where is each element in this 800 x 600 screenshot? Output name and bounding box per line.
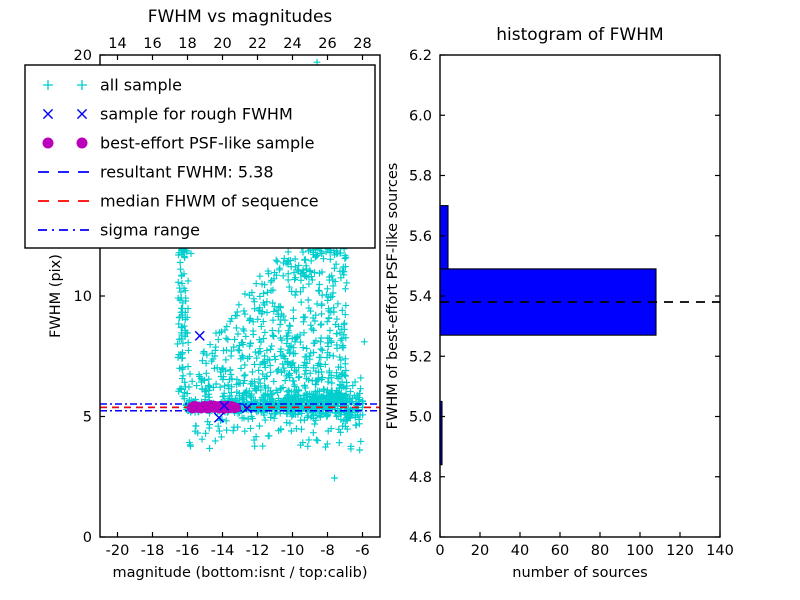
right-panel-histogram: histogram of FWHM020406080100120140numbe… bbox=[385, 25, 734, 581]
marker-plus-icon bbox=[174, 341, 181, 348]
marker-plus-icon bbox=[307, 308, 314, 315]
marker-plus-icon bbox=[212, 438, 219, 445]
marker-plus-icon bbox=[268, 279, 275, 286]
marker-plus-icon bbox=[227, 366, 234, 373]
legend-item-label: sample for rough FWHM bbox=[100, 105, 293, 124]
histogram-bars bbox=[440, 206, 656, 465]
marker-plus-icon bbox=[205, 376, 212, 383]
hist-y-tick-label: 5.0 bbox=[409, 410, 432, 426]
x-tick-label-top: 28 bbox=[353, 36, 371, 52]
hist-y-tick-label: 4.6 bbox=[409, 530, 432, 546]
hist-y-tick-label: 5.6 bbox=[409, 229, 432, 245]
marker-plus-icon bbox=[228, 371, 235, 378]
marker-plus-icon bbox=[269, 327, 276, 334]
marker-plus-icon bbox=[203, 370, 210, 377]
marker-plus-icon bbox=[217, 384, 224, 391]
marker-plus-icon bbox=[361, 338, 368, 345]
x-tick-label-top: 26 bbox=[318, 36, 336, 52]
marker-plus-icon bbox=[231, 336, 238, 343]
y-tick-label-left: 20 bbox=[74, 48, 92, 64]
marker-plus-icon bbox=[187, 443, 194, 450]
marker-plus-icon bbox=[285, 387, 292, 394]
right-ylabel: FWHM of best-effort PSF-like sources bbox=[385, 163, 401, 430]
marker-plus-icon bbox=[265, 433, 272, 440]
marker-plus-icon bbox=[206, 445, 213, 452]
marker-plus-icon bbox=[223, 427, 230, 434]
marker-plus-icon bbox=[270, 317, 277, 324]
marker-plus-icon bbox=[333, 413, 340, 420]
marker-plus-icon bbox=[331, 475, 338, 482]
marker-plus-icon bbox=[187, 371, 194, 378]
marker-plus-icon bbox=[242, 311, 249, 318]
marker-plus-icon bbox=[253, 280, 260, 287]
marker-plus-icon bbox=[316, 281, 323, 288]
marker-plus-icon bbox=[298, 426, 305, 433]
marker-plus-icon bbox=[339, 307, 346, 314]
marker-plus-icon bbox=[255, 367, 262, 374]
figure-canvas: FWHM vs magnitudes-20-18-16-14-12-10-8-6… bbox=[0, 0, 800, 600]
marker-plus-icon bbox=[242, 372, 249, 379]
hist-y-tick-label: 6.0 bbox=[409, 108, 432, 124]
marker-plus-icon bbox=[318, 346, 325, 353]
x-tick-label-bottom: -16 bbox=[176, 543, 200, 559]
marker-plus-icon bbox=[287, 323, 294, 330]
marker-plus-icon bbox=[310, 429, 317, 436]
legend-dot-icon bbox=[77, 138, 87, 148]
marker-plus-icon bbox=[268, 343, 275, 350]
x-tick-label-bottom: -14 bbox=[211, 543, 235, 559]
marker-plus-icon bbox=[343, 280, 350, 287]
marker-plus-icon bbox=[327, 327, 334, 334]
marker-plus-icon bbox=[316, 354, 323, 361]
marker-plus-icon bbox=[266, 357, 273, 364]
marker-plus-icon bbox=[342, 311, 349, 318]
marker-plus-icon bbox=[200, 350, 207, 357]
marker-plus-icon bbox=[259, 443, 266, 450]
hist-y-tick-label: 4.8 bbox=[409, 470, 432, 486]
marker-plus-icon bbox=[337, 357, 344, 364]
marker-plus-icon bbox=[283, 419, 290, 426]
marker-plus-icon bbox=[334, 345, 341, 352]
marker-plus-icon bbox=[256, 423, 263, 430]
marker-plus-icon bbox=[241, 308, 248, 315]
marker-plus-icon bbox=[250, 328, 257, 335]
x-tick-label-bottom: -20 bbox=[106, 543, 130, 559]
right-xlabel: number of sources bbox=[512, 565, 648, 581]
marker-plus-icon bbox=[262, 329, 269, 336]
marker-plus-icon bbox=[264, 309, 271, 316]
marker-plus-icon bbox=[277, 321, 284, 328]
marker-plus-icon bbox=[337, 429, 344, 436]
marker-plus-icon bbox=[336, 354, 343, 361]
marker-plus-icon bbox=[342, 302, 349, 309]
marker-plus-icon bbox=[303, 262, 310, 269]
hist-x-tick-label: 100 bbox=[626, 543, 654, 559]
marker-plus-icon bbox=[331, 265, 338, 272]
marker-plus-icon bbox=[189, 378, 196, 385]
marker-plus-icon bbox=[202, 393, 209, 400]
marker-plus-icon bbox=[306, 353, 313, 360]
marker-plus-icon bbox=[312, 318, 319, 325]
marker-plus-icon bbox=[175, 279, 182, 286]
legend-item-label: resultant FWHM: 5.38 bbox=[100, 163, 274, 182]
marker-plus-icon bbox=[315, 287, 322, 294]
marker-cross-icon bbox=[195, 331, 204, 340]
marker-plus-icon bbox=[276, 265, 283, 272]
left-xlabel-bottom: magnitude (bottom:isnt / top:calib) bbox=[112, 565, 367, 581]
marker-plus-icon bbox=[300, 314, 307, 321]
marker-plus-icon bbox=[313, 437, 320, 444]
histogram-bar bbox=[440, 206, 448, 269]
marker-plus-icon bbox=[325, 379, 332, 386]
matplotlib-figure: FWHM vs magnitudes-20-18-16-14-12-10-8-6… bbox=[0, 0, 800, 600]
marker-plus-icon bbox=[341, 268, 348, 275]
marker-plus-icon bbox=[249, 369, 256, 376]
marker-dot-icon bbox=[202, 404, 209, 411]
legend-dot-icon bbox=[43, 138, 53, 148]
marker-plus-icon bbox=[330, 353, 337, 360]
marker-plus-icon bbox=[318, 302, 325, 309]
marker-plus-icon bbox=[213, 330, 220, 337]
marker-plus-icon bbox=[322, 444, 329, 451]
x-tick-label-bottom: -6 bbox=[355, 543, 369, 559]
marker-plus-icon bbox=[292, 292, 299, 299]
marker-plus-icon bbox=[261, 360, 268, 367]
marker-plus-icon bbox=[234, 312, 241, 319]
marker-plus-icon bbox=[178, 289, 185, 296]
marker-plus-icon bbox=[318, 321, 325, 328]
marker-plus-icon bbox=[257, 273, 264, 280]
hist-x-tick-label: 60 bbox=[551, 543, 569, 559]
legend-item-label: median FHWM of sequence bbox=[100, 192, 319, 211]
marker-plus-icon bbox=[270, 378, 277, 385]
marker-plus-icon bbox=[230, 427, 237, 434]
hist-x-tick-label: 40 bbox=[511, 543, 529, 559]
marker-plus-icon bbox=[193, 382, 200, 389]
marker-plus-icon bbox=[336, 439, 343, 446]
marker-plus-icon bbox=[343, 254, 350, 261]
marker-plus-icon bbox=[292, 256, 299, 263]
marker-plus-icon bbox=[309, 326, 316, 333]
hist-x-tick-label: 0 bbox=[435, 543, 444, 559]
marker-plus-icon bbox=[290, 378, 297, 385]
marker-plus-icon bbox=[290, 350, 297, 357]
marker-plus-icon bbox=[202, 430, 209, 437]
legend-item-label: best-effort PSF-like sample bbox=[100, 134, 314, 153]
marker-plus-icon bbox=[357, 375, 364, 382]
hist-x-tick-label: 20 bbox=[471, 543, 489, 559]
marker-plus-icon bbox=[223, 356, 230, 363]
y-tick-label-left: 0 bbox=[83, 530, 92, 546]
marker-plus-icon bbox=[225, 382, 232, 389]
marker-plus-icon bbox=[317, 338, 324, 345]
marker-plus-icon bbox=[333, 330, 340, 337]
marker-plus-icon bbox=[334, 316, 341, 323]
marker-plus-icon bbox=[234, 424, 241, 431]
marker-plus-icon bbox=[306, 281, 313, 288]
marker-plus-icon bbox=[185, 278, 192, 285]
marker-plus-icon bbox=[326, 314, 333, 321]
x-tick-label-bottom: -10 bbox=[281, 543, 305, 559]
marker-plus-icon bbox=[223, 323, 230, 330]
x-tick-label-bottom: -18 bbox=[141, 543, 165, 559]
marker-plus-icon bbox=[305, 297, 312, 304]
marker-plus-icon bbox=[314, 301, 321, 308]
marker-plus-icon bbox=[177, 259, 184, 266]
marker-plus-icon bbox=[303, 345, 310, 352]
marker-plus-icon bbox=[356, 447, 363, 454]
left-ylabel: FWHM (pix) bbox=[48, 254, 64, 338]
marker-plus-icon bbox=[295, 262, 302, 269]
marker-plus-icon bbox=[215, 336, 222, 343]
y-tick-label-left: 10 bbox=[74, 289, 92, 305]
marker-plus-icon bbox=[224, 336, 231, 343]
hist-x-tick-label: 120 bbox=[666, 543, 694, 559]
x-tick-label-top: 20 bbox=[213, 36, 231, 52]
marker-plus-icon bbox=[286, 322, 293, 329]
marker-plus-icon bbox=[311, 421, 318, 428]
marker-plus-icon bbox=[193, 423, 200, 430]
marker-plus-icon bbox=[327, 256, 334, 263]
marker-plus-icon bbox=[235, 331, 242, 338]
marker-plus-icon bbox=[206, 425, 213, 432]
marker-plus-icon bbox=[291, 276, 298, 283]
marker-plus-icon bbox=[267, 369, 274, 376]
marker-plus-icon bbox=[306, 305, 313, 312]
marker-plus-icon bbox=[298, 299, 305, 306]
marker-plus-icon bbox=[185, 339, 192, 346]
hist-y-tick-label: 5.4 bbox=[409, 289, 432, 305]
marker-plus-icon bbox=[301, 257, 308, 264]
marker-plus-icon bbox=[324, 441, 331, 448]
legend-item-label: all sample bbox=[100, 76, 182, 95]
marker-plus-icon bbox=[268, 287, 275, 294]
marker-plus-icon bbox=[290, 307, 297, 314]
marker-plus-icon bbox=[357, 438, 364, 445]
marker-plus-icon bbox=[223, 417, 230, 424]
marker-plus-icon bbox=[290, 315, 297, 322]
marker-plus-icon bbox=[318, 311, 325, 318]
marker-plus-icon bbox=[216, 428, 223, 435]
marker-plus-icon bbox=[335, 426, 342, 433]
marker-plus-icon bbox=[177, 266, 184, 273]
x-tick-label-top: 22 bbox=[248, 36, 266, 52]
x-tick-label-top: 14 bbox=[108, 36, 126, 52]
marker-plus-icon bbox=[342, 360, 349, 367]
x-tick-label-bottom: -12 bbox=[246, 543, 270, 559]
marker-plus-icon bbox=[270, 333, 277, 340]
marker-plus-icon bbox=[282, 377, 289, 384]
x-tick-label-bottom: -8 bbox=[320, 543, 334, 559]
marker-plus-icon bbox=[238, 365, 245, 372]
marker-plus-icon bbox=[275, 328, 282, 335]
marker-plus-icon bbox=[285, 277, 292, 284]
marker-plus-icon bbox=[251, 443, 258, 450]
hist-y-tick-label: 5.8 bbox=[409, 169, 432, 185]
x-tick-label-top: 24 bbox=[283, 36, 301, 52]
x-tick-label-top: 18 bbox=[178, 36, 196, 52]
marker-plus-icon bbox=[274, 258, 281, 265]
legend-box bbox=[25, 65, 375, 248]
marker-plus-icon bbox=[342, 285, 349, 292]
hist-y-tick-label: 5.2 bbox=[409, 349, 432, 365]
marker-plus-icon bbox=[267, 346, 274, 353]
marker-plus-icon bbox=[333, 261, 340, 268]
marker-plus-icon bbox=[218, 434, 225, 441]
marker-plus-icon bbox=[306, 437, 313, 444]
marker-plus-icon bbox=[273, 257, 280, 264]
y-tick-label-left: 5 bbox=[83, 410, 92, 426]
marker-plus-icon bbox=[356, 420, 363, 427]
marker-plus-icon bbox=[308, 257, 315, 264]
marker-plus-icon bbox=[185, 347, 192, 354]
right-panel-title: histogram of FWHM bbox=[496, 25, 663, 45]
marker-plus-icon bbox=[242, 291, 249, 298]
marker-plus-icon bbox=[357, 385, 364, 392]
marker-plus-icon bbox=[236, 301, 243, 308]
marker-plus-icon bbox=[185, 363, 192, 370]
legend-item-label: sigma range bbox=[100, 221, 200, 240]
marker-plus-icon bbox=[335, 300, 342, 307]
hist-x-tick-label: 140 bbox=[706, 543, 734, 559]
marker-plus-icon bbox=[314, 437, 321, 444]
marker-plus-icon bbox=[251, 361, 258, 368]
legend: all samplesample for rough FWHMbest-effo… bbox=[25, 65, 375, 248]
marker-plus-icon bbox=[223, 335, 230, 342]
x-tick-label-top: 16 bbox=[143, 36, 161, 52]
marker-plus-icon bbox=[199, 436, 206, 443]
marker-plus-icon bbox=[180, 340, 187, 347]
marker-plus-icon bbox=[273, 368, 280, 375]
hist-x-tick-label: 80 bbox=[591, 543, 609, 559]
marker-plus-icon bbox=[233, 325, 240, 332]
marker-plus-icon bbox=[304, 443, 311, 450]
marker-plus-icon bbox=[188, 250, 195, 257]
marker-plus-icon bbox=[324, 318, 331, 325]
marker-plus-icon bbox=[241, 362, 248, 369]
hist-y-tick-label: 6.2 bbox=[409, 48, 432, 64]
marker-dot-icon bbox=[188, 403, 195, 410]
marker-plus-icon bbox=[285, 249, 292, 256]
marker-plus-icon bbox=[317, 322, 324, 329]
left-panel-title: FWHM vs magnitudes bbox=[148, 7, 333, 27]
marker-plus-icon bbox=[242, 333, 249, 340]
marker-plus-icon bbox=[300, 249, 307, 256]
series-psf-like-sample bbox=[187, 401, 240, 414]
marker-plus-icon bbox=[352, 422, 359, 429]
marker-plus-icon bbox=[282, 317, 289, 324]
